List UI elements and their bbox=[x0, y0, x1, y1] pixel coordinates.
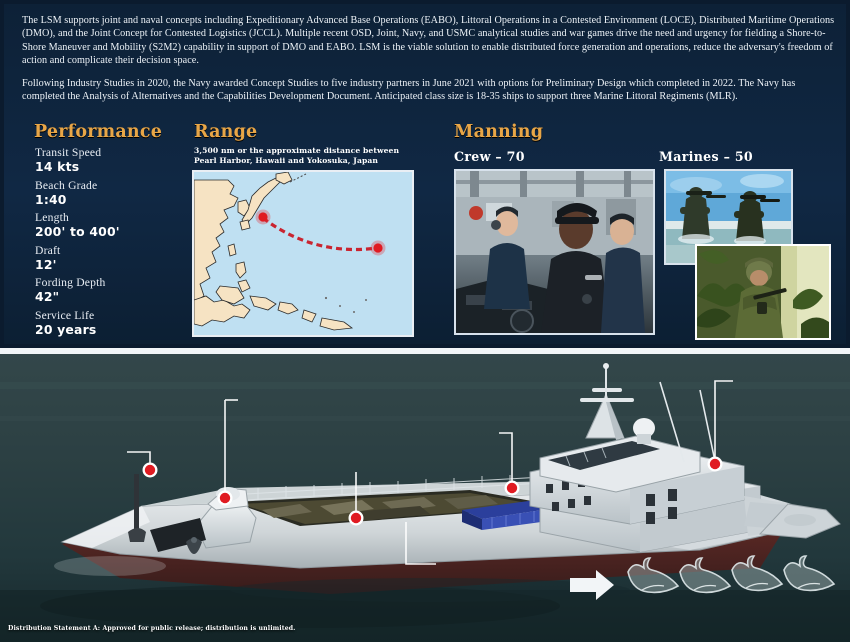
marines-count-label: Marines – 50 bbox=[659, 149, 753, 164]
ship-rendering bbox=[0, 354, 850, 642]
range-heading: Range bbox=[194, 122, 257, 142]
intro-text-block: The LSM supports joint and naval concept… bbox=[22, 14, 838, 112]
performance-item-length: Length 200' to 400' bbox=[35, 211, 185, 239]
performance-item-beach-grade: Beach Grade 1:40 bbox=[35, 179, 185, 207]
marine-jungle-graphic bbox=[697, 246, 829, 338]
map-marker-pearl-harbor bbox=[373, 243, 382, 252]
performance-heading: Performance bbox=[34, 122, 162, 142]
intro-paragraph-2: Following Industry Studies in 2020, the … bbox=[22, 77, 838, 104]
performance-label: Fording Depth bbox=[35, 276, 185, 289]
performance-label: Service Life bbox=[35, 309, 185, 322]
performance-value: 20 years bbox=[35, 322, 185, 337]
performance-item-fording-depth: Fording Depth 42" bbox=[35, 276, 185, 304]
marine-jungle-photo bbox=[695, 244, 831, 340]
intro-paragraph-1: The LSM supports joint and naval concept… bbox=[22, 14, 838, 68]
manning-heading: Manning bbox=[454, 122, 543, 142]
range-map bbox=[192, 170, 414, 337]
performance-value: 1:40 bbox=[35, 192, 185, 207]
crew-photo-graphic bbox=[456, 171, 653, 333]
map-marker-yokosuka bbox=[258, 212, 267, 221]
performance-label: Beach Grade bbox=[35, 179, 185, 192]
range-subtitle: 3,500 nm or the approximate distance bet… bbox=[194, 146, 409, 166]
performance-value: 42" bbox=[35, 289, 185, 304]
performance-label: Transit Speed bbox=[35, 146, 185, 159]
crew-count-label: Crew – 70 bbox=[454, 149, 525, 164]
performance-list: Transit Speed 14 kts Beach Grade 1:40 Le… bbox=[35, 146, 185, 341]
distribution-statement: Distribution Statement A: Approved for p… bbox=[8, 625, 295, 632]
ship-diagram-panel: Single Point Load / Offload via Ramp Sel… bbox=[0, 354, 850, 642]
performance-value: 14 kts bbox=[35, 159, 185, 174]
infographic-page: The LSM supports joint and naval concept… bbox=[0, 0, 850, 642]
performance-item-service-life: Service Life 20 years bbox=[35, 309, 185, 337]
performance-label: Length bbox=[35, 211, 185, 224]
performance-item-draft: Draft 12' bbox=[35, 244, 185, 272]
performance-item-transit-speed: Transit Speed 14 kts bbox=[35, 146, 185, 174]
performance-label: Draft bbox=[35, 244, 185, 257]
performance-value: 12' bbox=[35, 257, 185, 272]
range-map-graphic bbox=[194, 172, 412, 335]
crew-photo bbox=[454, 169, 655, 335]
performance-value: 200' to 400' bbox=[35, 224, 185, 239]
top-info-panel: The LSM supports joint and naval concept… bbox=[0, 0, 850, 348]
